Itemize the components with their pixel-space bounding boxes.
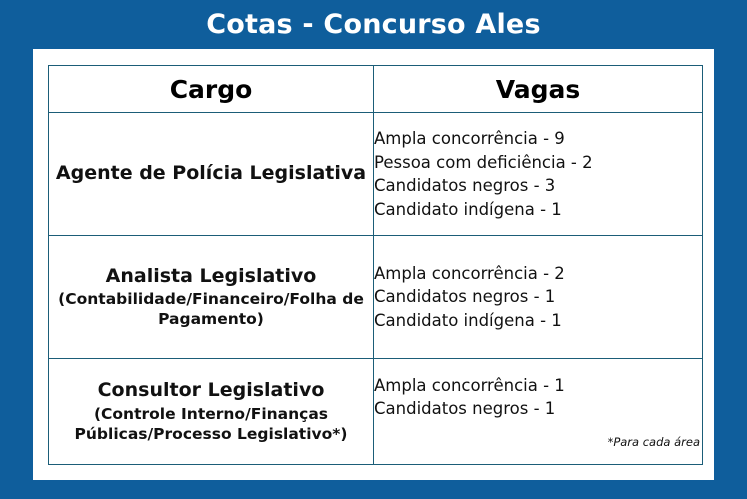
table-row: Consultor Legislativo (Controle Interno/…	[49, 358, 703, 464]
table-header: Cargo Vagas	[49, 66, 703, 113]
cargo-main-label: Consultor Legislativo	[49, 379, 373, 403]
list-item: Candidato indígena - 1	[374, 309, 702, 332]
vagas-cell: Ampla concorrência - 9 Pessoa com defici…	[374, 113, 703, 236]
cargo-main-label: Analista Legislativo	[49, 265, 373, 289]
column-header-vagas: Vagas	[374, 66, 703, 113]
list-item: Ampla concorrência - 2	[374, 262, 702, 285]
vagas-cell: Ampla concorrência - 1 Candidatos negros…	[374, 358, 703, 464]
column-header-vagas-label: Vagas	[496, 75, 581, 104]
table-row: Analista Legislativo (Contabilidade/Fina…	[49, 236, 703, 358]
list-item: Candidato indígena - 1	[374, 198, 702, 221]
cargo-cell: Agente de Polícia Legislativa	[49, 113, 374, 236]
vagas-list: Ampla concorrência - 2 Candidatos negros…	[374, 262, 702, 332]
page-title: Cotas - Concurso Ales	[206, 11, 540, 38]
slide-canvas: Cotas - Concurso Ales Cargo Vagas	[0, 0, 747, 499]
table-footnote: *Para cada área	[374, 435, 702, 449]
list-item: Ampla concorrência - 9	[374, 127, 702, 150]
slide-title-bar: Cotas - Concurso Ales	[0, 0, 747, 49]
list-item: Candidatos negros - 3	[374, 174, 702, 197]
content-card: Cargo Vagas Agente de Polícia Legislativ…	[33, 49, 714, 480]
cargo-sub-label: (Contabilidade/Financeiro/Folha de Pagam…	[49, 289, 373, 329]
table-row: Agente de Polícia Legislativa Ampla conc…	[49, 113, 703, 236]
list-item: Candidatos negros - 1	[374, 397, 702, 420]
list-item: Pessoa com deficiência - 2	[374, 151, 702, 174]
vagas-list: Ampla concorrência - 9 Pessoa com defici…	[374, 127, 702, 221]
cargo-cell: Consultor Legislativo (Controle Interno/…	[49, 358, 374, 464]
cargo-main-label: Agente de Polícia Legislativa	[49, 162, 373, 186]
cargo-sub-label: (Controle Interno/Finanças Públicas/Proc…	[49, 404, 373, 444]
vagas-list: Ampla concorrência - 1 Candidatos negros…	[374, 374, 702, 421]
list-item: Candidatos negros - 1	[374, 285, 702, 308]
list-item: Ampla concorrência - 1	[374, 374, 702, 397]
vagas-cell: Ampla concorrência - 2 Candidatos negros…	[374, 236, 703, 358]
table-header-row: Cargo Vagas	[49, 66, 703, 113]
cotas-table: Cargo Vagas Agente de Polícia Legislativ…	[48, 65, 703, 465]
cargo-cell: Analista Legislativo (Contabilidade/Fina…	[49, 236, 374, 358]
column-header-cargo: Cargo	[49, 66, 374, 113]
table-body: Agente de Polícia Legislativa Ampla conc…	[49, 113, 703, 465]
column-header-cargo-label: Cargo	[170, 75, 253, 104]
